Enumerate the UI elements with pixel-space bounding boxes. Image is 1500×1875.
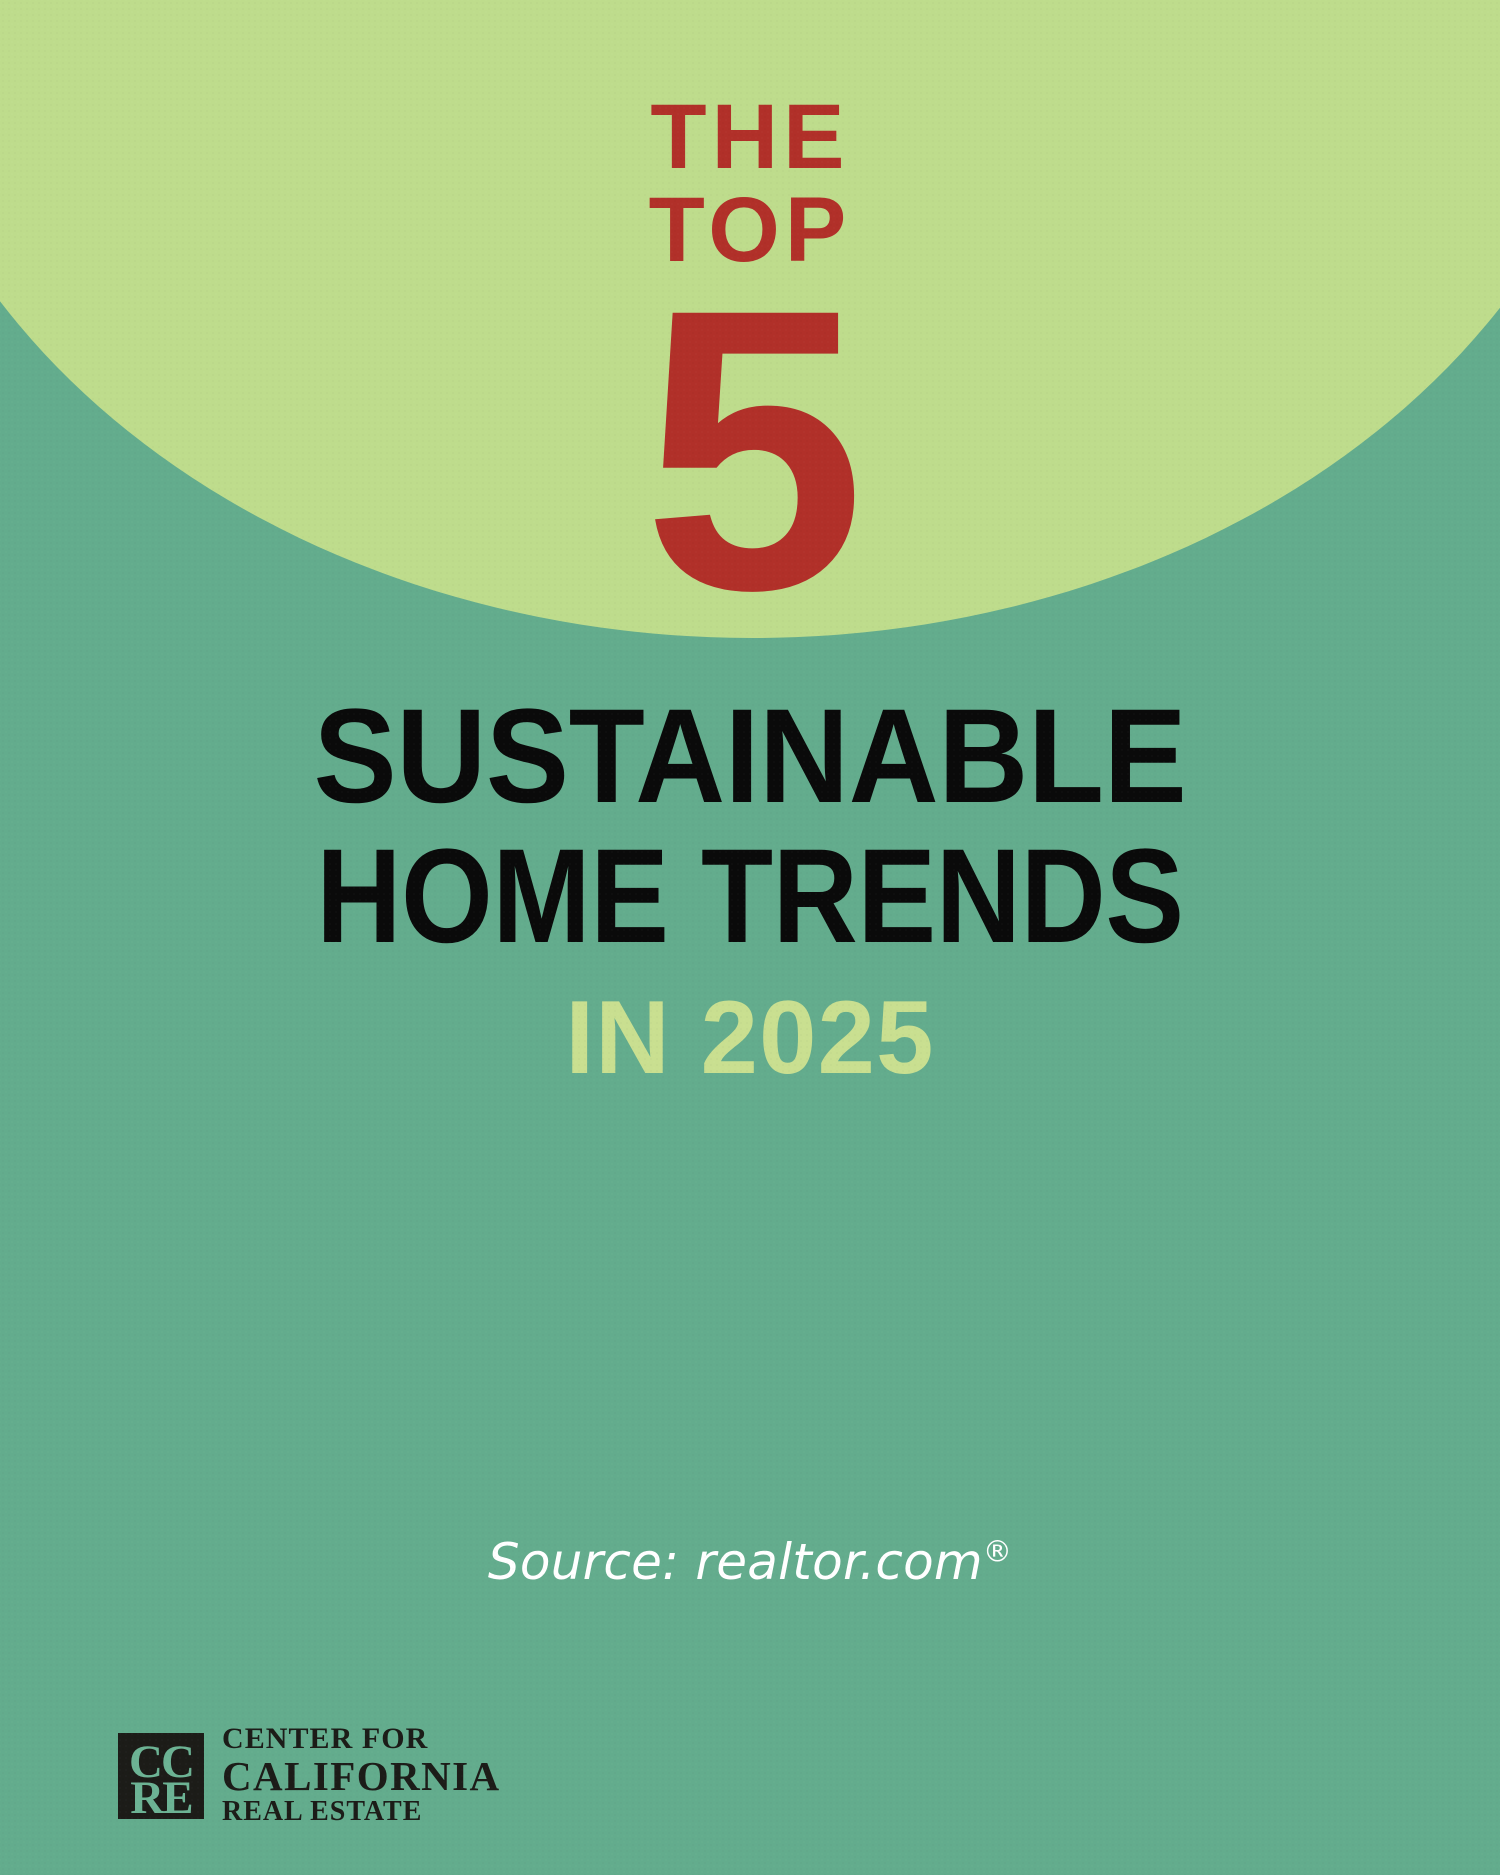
registered-trademark-icon: ® — [983, 1534, 1012, 1568]
headline-line-1: SUSTAINABLE — [53, 690, 1448, 824]
source-label: Source: realtor.com — [488, 1533, 983, 1591]
logo-name-line-2: CALIFORNIA — [222, 1756, 501, 1798]
logo-name-line-1: CENTER FOR — [222, 1724, 501, 1755]
headline-block: SUSTAINABLE HOME TRENDS IN 2025 — [0, 690, 1500, 1090]
ccre-logo-wordmark: CENTER FOR CALIFORNIA REAL ESTATE — [222, 1724, 501, 1827]
poster-canvas: THE TOP 5 SUSTAINABLE HOME TRENDS IN 202… — [0, 0, 1500, 1875]
kicker-the: THE — [0, 95, 1500, 180]
logo-name-line-3: REAL ESTATE — [222, 1798, 501, 1827]
header-block: THE TOP 5 — [0, 0, 1500, 610]
ccre-monogram-mark: CC RE — [118, 1733, 204, 1819]
source-attribution: Source: realtor.com® — [0, 1533, 1500, 1591]
headline-year: IN 2025 — [8, 986, 1493, 1090]
monogram-re: RE — [118, 1775, 204, 1822]
headline-line-2: HOME TRENDS — [90, 830, 1410, 964]
ccre-logo: CC RE CENTER FOR CALIFORNIA REAL ESTATE — [118, 1724, 501, 1827]
rank-number-five: 5 — [0, 290, 1500, 610]
